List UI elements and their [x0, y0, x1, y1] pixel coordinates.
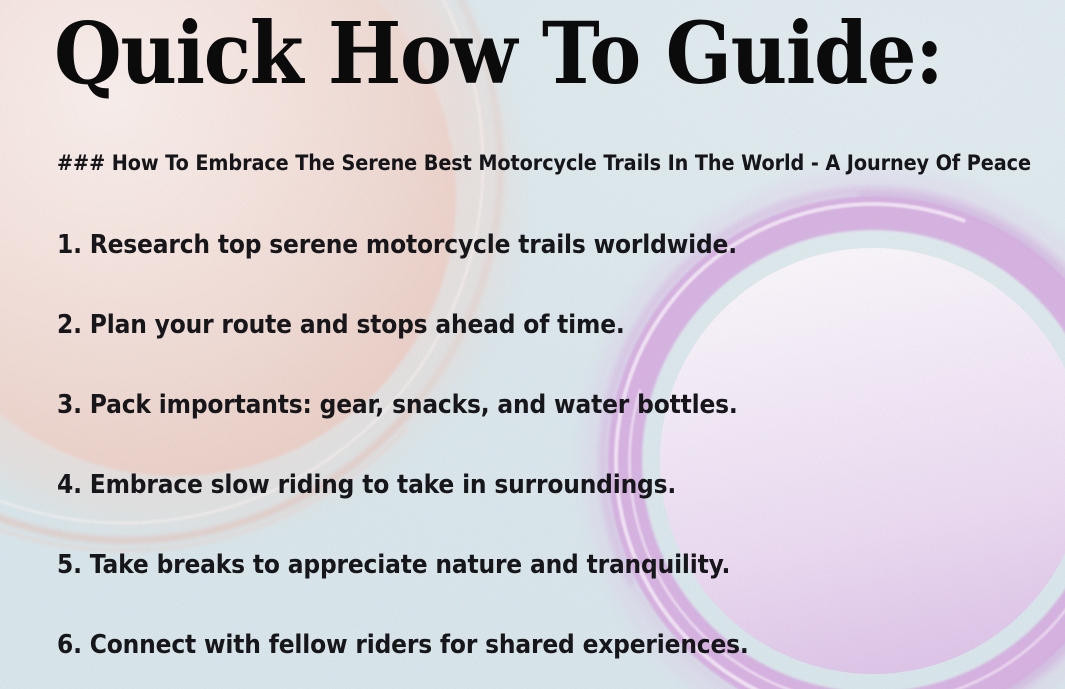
list-item: 6. Connect with fellow riders for shared…: [57, 631, 749, 660]
page-title: Quick How To Guide:: [54, 12, 942, 97]
list-item: 2. Plan your route and stops ahead of ti…: [57, 311, 625, 340]
poster-canvas: Quick How To Guide: ### How To Embrace T…: [0, 0, 1065, 689]
guide-body: ### How To Embrace The Serene Best Motor…: [57, 152, 1065, 176]
list-item: 3. Pack importants: gear, snacks, and wa…: [57, 391, 738, 420]
list-item: 1. Research top serene motorcycle trails…: [57, 231, 737, 260]
guide-heading: ### How To Embrace The Serene Best Motor…: [57, 152, 959, 176]
list-item: 5. Take breaks to appreciate nature and …: [57, 551, 730, 580]
poster-content: Quick How To Guide: ### How To Embrace T…: [0, 0, 1065, 689]
list-item: 4. Embrace slow riding to take in surrou…: [57, 471, 676, 500]
